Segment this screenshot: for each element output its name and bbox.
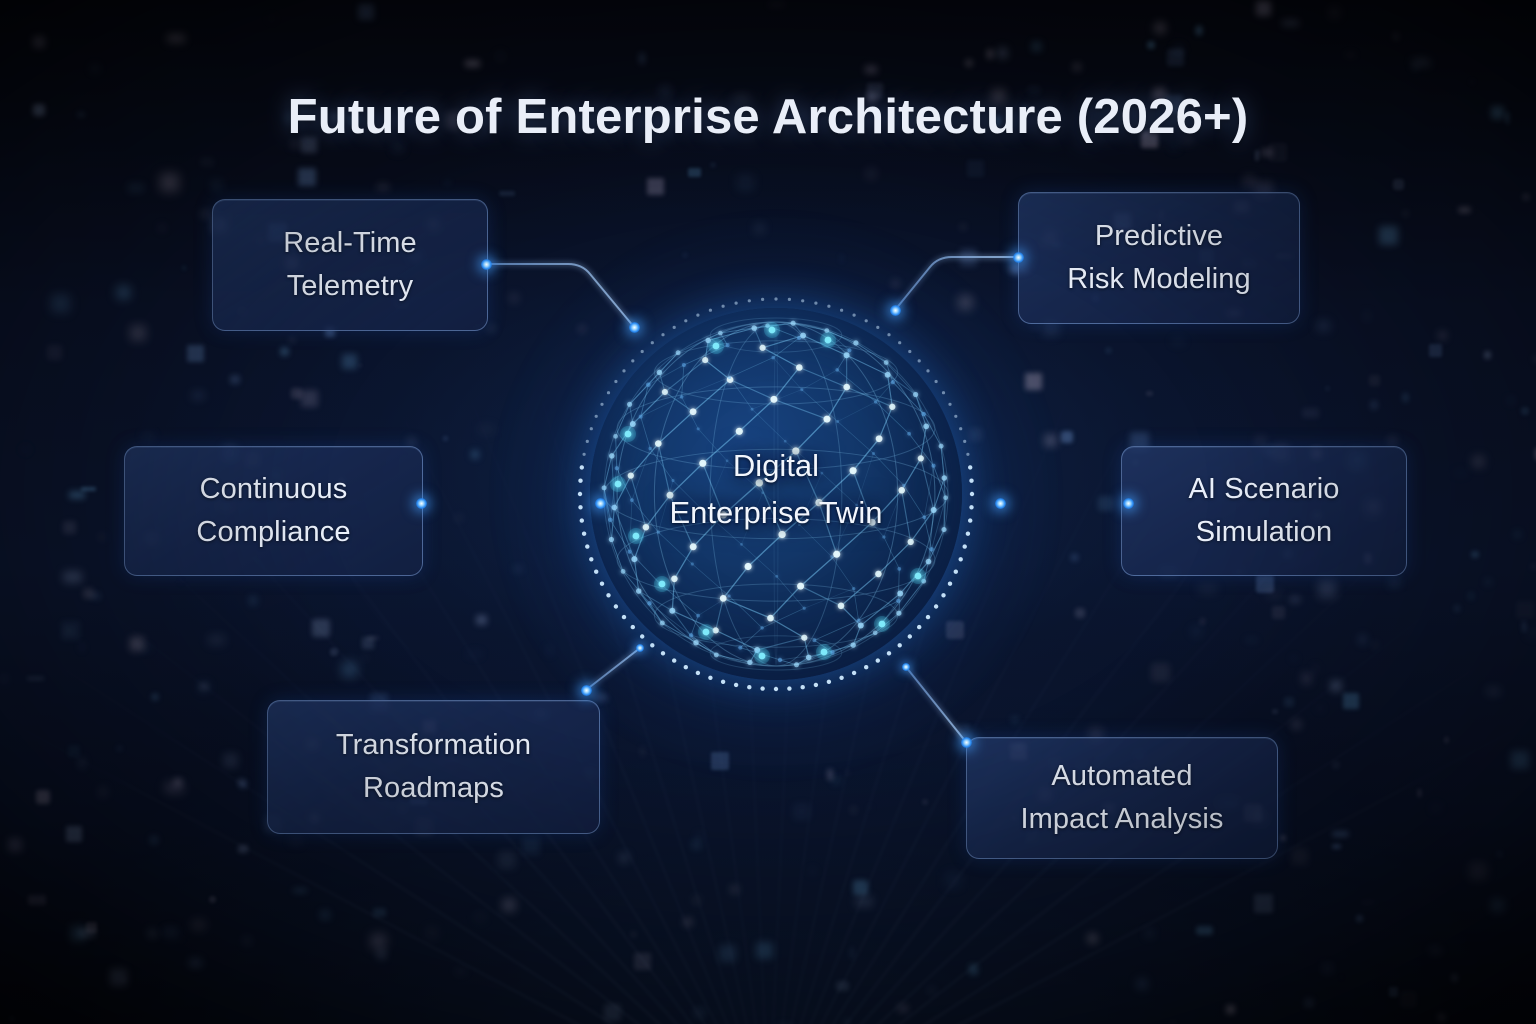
connector-dot-ai-scenario-simulation [1123, 498, 1134, 509]
node-label-line1: Continuous [196, 468, 350, 511]
page-title: Future of Enterprise Architecture (2026+… [0, 89, 1536, 145]
sphere-dot-ai-scenario-simulation [995, 498, 1006, 509]
node-label-line2: Simulation [1188, 511, 1339, 554]
connector-dot-continuous-compliance [416, 498, 427, 509]
node-label-line2: Roadmaps [336, 767, 531, 810]
connector-dot-predictive-risk-modeling [1013, 252, 1024, 263]
sphere-dot-predictive-risk-modeling [890, 305, 901, 316]
node-label-line2: Telemetry [283, 265, 417, 308]
sphere-dot-transformation-roadmaps [636, 644, 644, 652]
digital-twin-sphere: Digital Enterprise Twin [566, 284, 986, 704]
node-label-line1: Predictive [1067, 215, 1250, 258]
node-label-line2: Risk Modeling [1067, 258, 1250, 301]
sphere-dot-continuous-compliance [595, 498, 606, 509]
node-ai-scenario-simulation[interactable]: AI Scenario Simulation [1121, 446, 1407, 576]
connector-dot-automated-impact-analysis [961, 737, 972, 748]
connector-dot-transformation-roadmaps [581, 685, 592, 696]
node-label-line1: AI Scenario [1188, 468, 1339, 511]
node-transformation-roadmaps[interactable]: Transformation Roadmaps [267, 700, 600, 834]
node-label-line1: Automated [1021, 755, 1224, 798]
node-label-line1: Real-Time [283, 222, 417, 265]
node-real-time-telemetry[interactable]: Real-Time Telemetry [212, 199, 488, 331]
globe-wireframe [566, 284, 986, 704]
sphere-dot-real-time-telemetry [629, 322, 640, 333]
diagram-canvas: Digital Enterprise Twin Real-Time Teleme… [0, 0, 1536, 1024]
node-automated-impact-analysis[interactable]: Automated Impact Analysis [966, 737, 1278, 859]
sphere-dot-automated-impact-analysis [902, 663, 910, 671]
connector-dot-real-time-telemetry [481, 259, 492, 270]
node-label-line1: Transformation [336, 724, 531, 767]
node-label-line2: Impact Analysis [1021, 798, 1224, 841]
node-label-line2: Compliance [196, 511, 350, 554]
node-predictive-risk-modeling[interactable]: Predictive Risk Modeling [1018, 192, 1300, 324]
node-continuous-compliance[interactable]: Continuous Compliance [124, 446, 423, 576]
